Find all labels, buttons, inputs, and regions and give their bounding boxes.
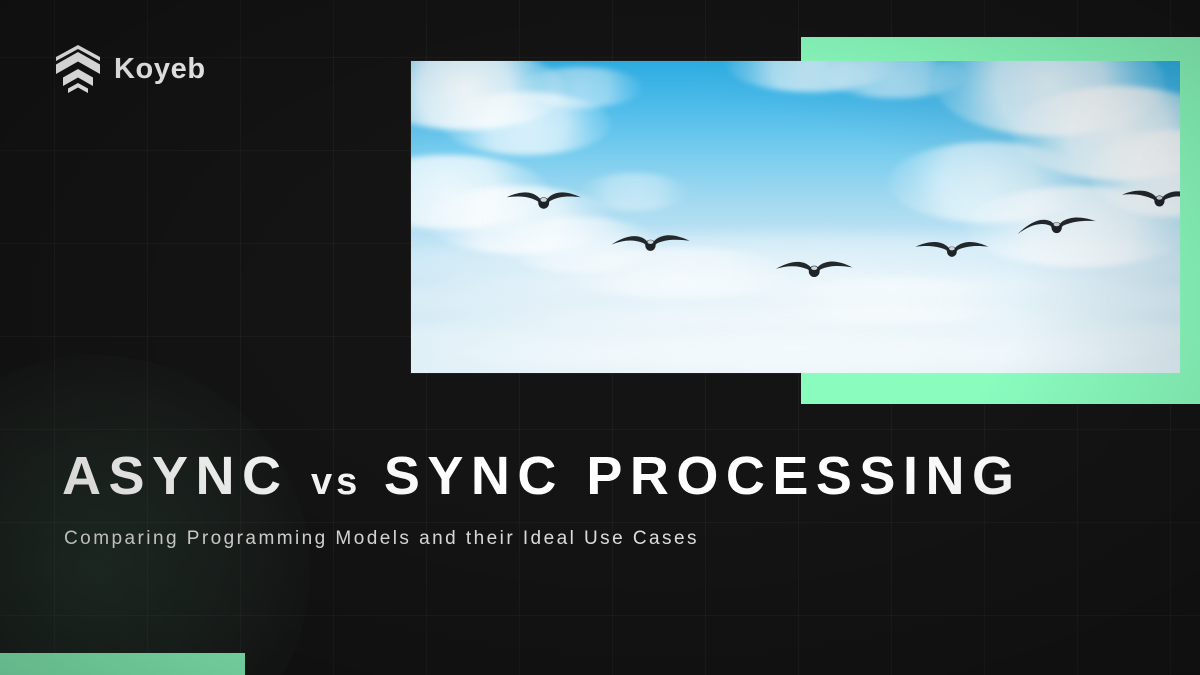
title-part-2: SYNC PROCESSING xyxy=(384,446,1022,506)
cloud xyxy=(765,279,1026,323)
green-bottom-bar xyxy=(0,653,245,675)
title-separator: vs xyxy=(311,461,361,503)
koyeb-chevron-logo-icon xyxy=(55,44,101,94)
page-title: ASYNC vs SYNC PROCESSING xyxy=(62,448,1021,505)
title-part-1: ASYNC xyxy=(62,446,289,506)
bird-icon xyxy=(1009,212,1104,242)
bird-icon xyxy=(905,237,999,264)
cover-canvas: Koyeb ASYNC vs SYNC PROCESSING Comparing… xyxy=(0,0,1200,675)
page-subtitle: Comparing Programming Models and their I… xyxy=(64,528,699,551)
bird-icon xyxy=(496,187,591,215)
cloud xyxy=(580,173,688,210)
brand-name: Koyeb xyxy=(114,55,206,84)
bird-icon xyxy=(602,229,699,258)
hero-photo xyxy=(411,61,1180,373)
bottom-left-green-glow xyxy=(0,355,310,675)
cloud xyxy=(519,67,642,108)
bird-icon xyxy=(765,256,863,284)
brand-logo[interactable]: Koyeb xyxy=(55,44,206,94)
bird-icon xyxy=(1111,186,1180,213)
